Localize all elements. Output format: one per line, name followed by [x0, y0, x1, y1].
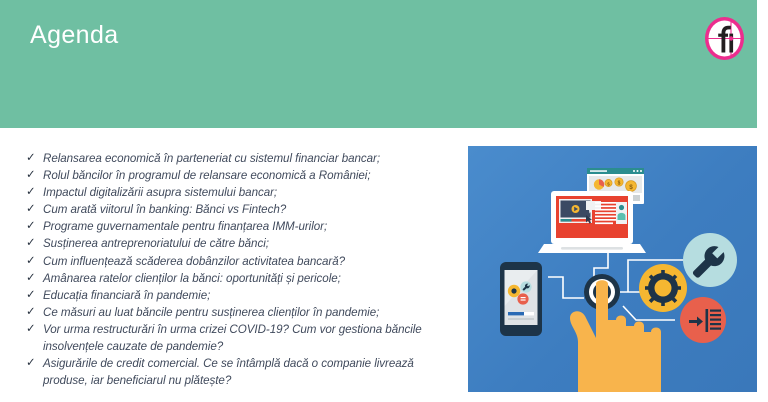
list-item: ✓ Rolul băncilor în programul de relansa… [26, 167, 458, 184]
list-item: ✓ Relansarea economică în parteneriat cu… [26, 150, 458, 167]
gear-icon-circle [639, 264, 687, 312]
list-import-icon-circle [680, 297, 726, 343]
check-icon: ✓ [26, 150, 36, 167]
list-item: ✓ Ce măsuri au luat băncile pentru susți… [26, 304, 458, 321]
laptop-with-red-screen [538, 191, 646, 253]
list-item: ✓ Susținerea antreprenoriatului de către… [26, 235, 458, 252]
fi-logo [704, 16, 745, 61]
list-item-label: Programe guvernamentale pentru finanțare… [43, 220, 327, 233]
list-item-label: Ce măsuri au luat băncile pentru susține… [43, 306, 379, 319]
check-icon: ✓ [26, 287, 36, 304]
list-item-label: Relansarea economică în parteneriat cu s… [43, 152, 380, 165]
list-item-label: Susținerea antreprenoriatului de către b… [43, 237, 269, 250]
svg-text:$: $ [618, 181, 621, 187]
slide: Agenda ✓ Relansarea economică în partene… [0, 0, 768, 402]
list-item-label: Vor urma restructurări în urma crizei CO… [43, 323, 422, 353]
agenda-list: ✓ Relansarea economică în parteneriat cu… [26, 150, 458, 389]
smartphone-with-app-screen [500, 262, 542, 336]
check-icon: ✓ [26, 218, 36, 235]
list-item-label: Educația financiară în pandemie; [43, 289, 210, 302]
list-item-label: Asigurările de credit comercial. Ce se î… [43, 357, 414, 387]
header-band: Agenda [0, 0, 757, 128]
check-icon: ✓ [26, 321, 36, 338]
check-icon: ✓ [26, 253, 36, 270]
list-item: ✓ Impactul digitalizării asupra sistemul… [26, 184, 458, 201]
list-item: ✓ Programe guvernamentale pentru finanța… [26, 218, 458, 235]
list-item-label: Amânarea ratelor clienților la bănci: op… [43, 272, 341, 285]
page-title: Agenda [30, 21, 119, 50]
check-icon: ✓ [26, 235, 36, 252]
check-icon: ✓ [26, 201, 36, 218]
digital-banking-illustration: $ $ $ [468, 146, 757, 392]
check-icon: ✓ [26, 355, 36, 372]
check-icon: ✓ [26, 304, 36, 321]
wrench-icon-circle [683, 233, 737, 287]
check-icon: ✓ [26, 184, 36, 201]
list-item: ✓ Educația financiară în pandemie; [26, 287, 458, 304]
list-item: ✓ Cum arată viitorul în banking: Bănci v… [26, 201, 458, 218]
check-icon: ✓ [26, 270, 36, 287]
list-item-label: Cum influențează scăderea dobânzilor act… [43, 255, 345, 268]
list-item: ✓ Cum influențează scăderea dobânzilor a… [26, 253, 458, 270]
list-item: ✓ Amânarea ratelor clienților la bănci: … [26, 270, 458, 287]
check-icon: ✓ [26, 167, 36, 184]
list-item: ✓ Vor urma restructurări în urma crizei … [26, 321, 458, 355]
list-item-label: Impactul digitalizării asupra sistemului… [43, 186, 277, 199]
right-margin [757, 0, 768, 402]
list-item: ✓ Asigurările de credit comercial. Ce se… [26, 355, 458, 389]
list-item-label: Rolul băncilor în programul de relansare… [43, 169, 371, 182]
svg-text:$: $ [629, 184, 633, 191]
list-item-label: Cum arată viitorul în banking: Bănci vs … [43, 203, 286, 216]
